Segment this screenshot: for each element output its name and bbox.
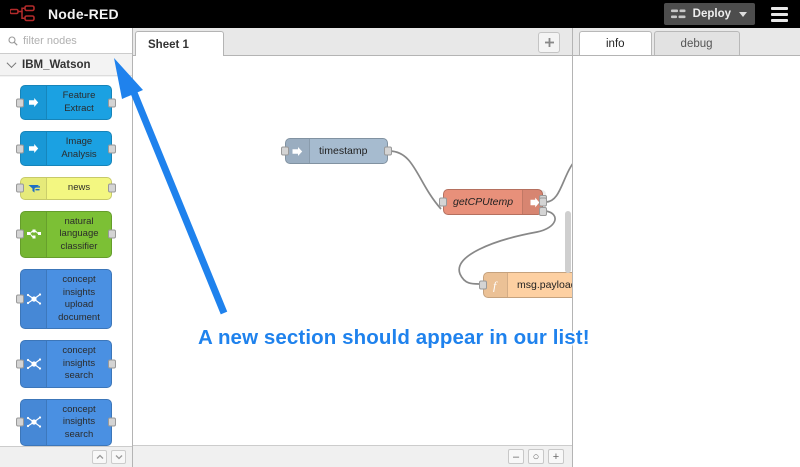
function-f-icon: f [484,273,508,297]
label-line: classifier [61,241,98,254]
app-header: Node-RED Deploy [0,0,800,28]
palette-node-concept-insights-upload-document[interactable]: concept insights upload document [20,269,112,329]
brand-logo: Node-RED [0,5,119,23]
zoom-in-button[interactable]: + [548,449,564,464]
tab-label: Sheet 1 [148,39,189,51]
palette-node-feature-extract[interactable]: Feature Extract [20,85,112,120]
menu-bar-3 [771,19,788,22]
palette-scroll-up-button[interactable] [92,450,107,464]
node-output-port[interactable] [108,230,116,239]
flow-node-msg-payload-function[interactable]: f msg.payload [483,272,572,298]
palette-node-list[interactable]: Feature Extract Image Analysis [0,77,132,446]
canvas-vertical-scrollbar[interactable] [565,211,571,273]
menu-bar-1 [771,7,788,10]
chevron-down-icon [739,12,747,17]
search-icon [8,36,18,46]
node-output-port[interactable] [108,184,116,193]
palette-node-label: concept insights search [47,341,111,387]
node-palette: IBM_Watson Feature Extract [0,28,133,467]
label-line: Feature [63,90,96,103]
palette-footer [0,446,132,467]
flow-tab-bar: Sheet 1 [133,28,572,56]
wire-getcputemp-out1-to-debug [546,148,572,202]
burst-icon [21,400,47,446]
minus-icon: – [513,451,519,463]
palette-category-ibm-watson[interactable]: IBM_Watson [0,54,132,76]
palette-node-label: Feature Extract [47,86,111,119]
node-input-port[interactable] [16,184,24,193]
palette-node-label: Image Analysis [47,132,111,165]
brand-title: Node-RED [48,6,119,22]
zoom-out-button[interactable]: – [508,449,524,464]
plus-icon: + [553,451,559,463]
add-flow-tab-button[interactable] [538,32,560,53]
node-input-port[interactable] [16,230,24,239]
node-input-port[interactable] [281,147,289,156]
flow-workspace: Sheet 1 [133,28,572,467]
palette-scroll-down-button[interactable] [111,450,126,464]
tab-label: info [606,38,625,50]
node-red-editor: Node-RED Deploy [0,0,800,467]
node-input-port[interactable] [16,295,24,304]
label-line: search [65,370,94,383]
tab-debug[interactable]: debug [654,31,740,55]
palette-node-natural-language-classifier[interactable]: natural language classifier [20,211,112,259]
circle-icon: ○ [533,451,540,463]
node-input-port[interactable] [16,418,24,427]
label-line: news [68,182,90,195]
label-line: insights [63,287,95,300]
deploy-icon [671,8,687,20]
flow-node-label: getCPUtemp [444,190,522,214]
label-line: concept [62,345,95,358]
label-line: upload [65,299,94,312]
palette-node-label: concept insights search [47,400,111,446]
tab-info[interactable]: info [579,31,652,55]
palette-node-label: concept insights upload document [47,270,111,328]
burst-icon [21,341,47,387]
palette-category-label: IBM_Watson [22,59,91,71]
node-input-port[interactable] [439,198,447,207]
burst-icon [21,270,47,328]
plus-icon [544,37,555,48]
arrow-right-icon [21,132,47,165]
node-output-port[interactable] [108,359,116,368]
label-line: natural [64,216,93,229]
tab-label: debug [681,38,713,50]
annotation-text: A new section should appear in our list! [198,326,590,350]
node-output-port-2[interactable] [539,198,547,207]
canvas-footer-toolbar: – ○ + [133,445,572,467]
flow-node-label: msg.payload [508,273,572,297]
wire-timestamp-to-getcputemp [390,151,441,209]
palette-node-concept-insights-search-2[interactable]: concept insights search [20,399,112,447]
label-line: document [58,312,100,325]
node-red-logo-icon [10,5,40,23]
flow-node-getcputemp[interactable]: getCPUtemp [443,189,543,215]
label-line: concept [62,274,95,287]
palette-node-image-analysis[interactable]: Image Analysis [20,131,112,166]
flow-node-timestamp[interactable]: timestamp [285,138,388,164]
deploy-label: Deploy [693,8,731,20]
node-input-port[interactable] [16,144,24,153]
palette-node-concept-insights-search-1[interactable]: concept insights search [20,340,112,388]
node-output-port[interactable] [108,98,116,107]
hamburger-menu-icon[interactable] [765,3,794,26]
flow-wires [133,56,572,445]
node-output-port[interactable] [108,418,116,427]
node-output-port[interactable] [108,144,116,153]
flow-canvas[interactable]: timestamp getCPUtemp msg.p [133,56,572,445]
inject-arrow-icon [286,139,310,163]
sidebar-tab-bar: info debug [573,28,800,56]
chevron-down-icon [115,454,123,460]
label-line: insights [63,416,95,429]
node-input-port[interactable] [16,359,24,368]
palette-node-news[interactable]: news [20,177,112,200]
network-icon [21,212,47,258]
label-line: Analysis [61,149,96,162]
node-input-port[interactable] [479,281,487,290]
label-line: insights [63,358,95,371]
feed-icon [21,178,47,199]
flow-node-label: timestamp [310,139,387,163]
sidebar-content-panel[interactable] [573,56,800,467]
node-input-port[interactable] [16,98,24,107]
arrow-right-icon [21,86,47,119]
label-line: language [59,228,98,241]
node-output-port-3[interactable] [539,207,547,216]
chevron-down-icon [7,58,17,68]
node-output-port[interactable] [384,147,392,156]
deploy-button[interactable]: Deploy [664,3,755,25]
label-line: Extract [64,103,94,116]
palette-search-row [0,28,132,54]
palette-node-label: natural language classifier [47,212,111,258]
menu-bar-2 [771,13,788,16]
tab-sheet-1[interactable]: Sheet 1 [135,31,224,57]
palette-node-label: news [47,178,111,199]
svg-text:f: f [493,279,498,293]
label-line: concept [62,404,95,417]
label-line: Image [66,136,92,149]
chevron-up-icon [96,454,104,460]
label-line: search [65,429,94,442]
search-input[interactable] [23,35,118,47]
zoom-reset-button[interactable]: ○ [528,449,544,464]
header-actions: Deploy [664,0,794,28]
right-sidebar: info debug [572,28,800,467]
